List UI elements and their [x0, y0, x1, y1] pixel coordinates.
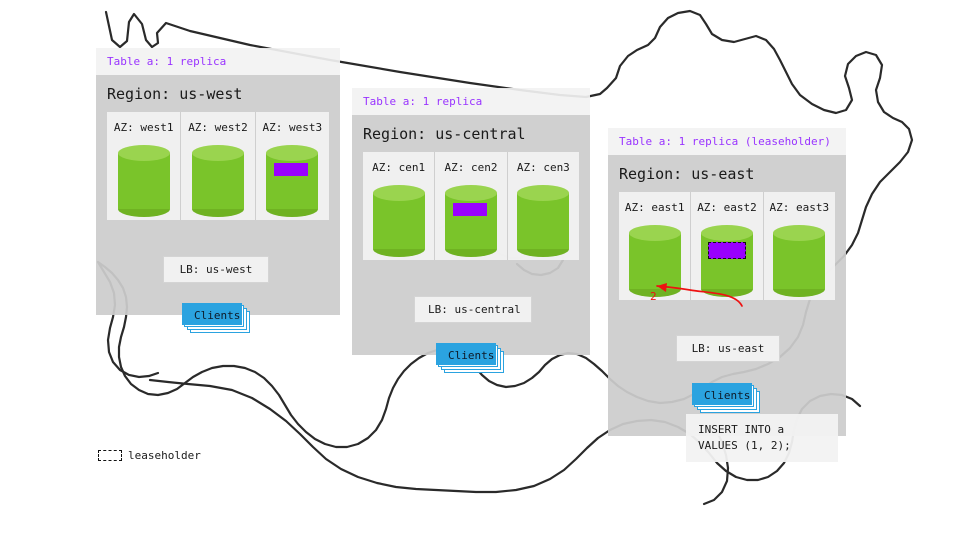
- cylinder-top: [517, 185, 569, 201]
- cylinder-top: [266, 145, 318, 161]
- cylinder-body: [445, 193, 497, 249]
- az-label: AZ: east3: [764, 201, 835, 214]
- az-label: AZ: west1: [107, 121, 180, 134]
- region-panel-us-east: Table a: 1 replica (leaseholder) Region:…: [608, 128, 846, 436]
- region-header-label: Table a: 1 replica: [352, 88, 590, 115]
- region-panel-us-central: Table a: 1 replica Region: us-central AZ…: [352, 88, 590, 355]
- az-label: AZ: west2: [181, 121, 254, 134]
- load-balancer-box[interactable]: LB: us-west: [163, 256, 269, 283]
- range-replica-leaseholder: [708, 242, 746, 259]
- cylinder-body: [373, 193, 425, 249]
- node-cylinder[interactable]: [445, 185, 497, 257]
- region-header-label: Table a: 1 replica (leaseholder): [608, 128, 846, 155]
- az-label: AZ: cen3: [508, 161, 579, 174]
- node-cylinder[interactable]: [192, 145, 244, 217]
- az-row: AZ: west1 AZ: west2 AZ: [107, 112, 329, 220]
- arrow-step-label-2: 2: [650, 290, 657, 303]
- az-label: AZ: east1: [619, 201, 690, 214]
- range-replica: [453, 203, 487, 216]
- az-label: AZ: cen2: [435, 161, 506, 174]
- cylinder-top: [445, 185, 497, 201]
- az-cell-cen1[interactable]: AZ: cen1: [363, 152, 434, 260]
- cylinder-top: [773, 225, 825, 241]
- sql-statement-box: INSERT INTO a VALUES (1, 2);: [686, 414, 838, 462]
- clients-stack[interactable]: Clients: [692, 383, 760, 413]
- az-label: AZ: east2: [691, 201, 762, 214]
- cylinder-body: [629, 233, 681, 289]
- node-cylinder[interactable]: [773, 225, 825, 297]
- az-cell-cen3[interactable]: AZ: cen3: [507, 152, 579, 260]
- node-cylinder[interactable]: [373, 185, 425, 257]
- range-replica: [274, 163, 308, 176]
- legend-label: leaseholder: [128, 449, 201, 462]
- node-cylinder[interactable]: [517, 185, 569, 257]
- cylinder-body: [192, 153, 244, 209]
- az-cell-cen2[interactable]: AZ: cen2: [434, 152, 506, 260]
- az-cell-west3[interactable]: AZ: west3: [255, 112, 329, 220]
- clients-stack[interactable]: Clients: [182, 303, 250, 333]
- cylinder-top: [118, 145, 170, 161]
- region-title: Region: us-central: [352, 115, 590, 152]
- az-cell-east1[interactable]: AZ: east1: [619, 192, 690, 300]
- az-row: AZ: cen1 AZ: cen2: [363, 152, 579, 260]
- node-cylinder[interactable]: [266, 145, 318, 217]
- diagram-canvas: Table a: 1 replica Region: us-west AZ: w…: [0, 0, 960, 540]
- az-cell-east3[interactable]: AZ: east3: [763, 192, 835, 300]
- az-label: AZ: west3: [256, 121, 329, 134]
- dashed-rectangle-icon: [98, 450, 122, 461]
- cylinder-body: [266, 153, 318, 209]
- region-panel-us-west: Table a: 1 replica Region: us-west AZ: w…: [96, 48, 340, 315]
- node-cylinder[interactable]: [629, 225, 681, 297]
- region-title: Region: us-west: [96, 75, 340, 112]
- legend: leaseholder: [98, 449, 201, 462]
- clients-button[interactable]: Clients: [182, 303, 242, 325]
- region-title: Region: us-east: [608, 155, 846, 192]
- az-cell-east2[interactable]: AZ: east2: [690, 192, 762, 300]
- clients-button[interactable]: Clients: [436, 343, 496, 365]
- clients-button[interactable]: Clients: [692, 383, 752, 405]
- az-cell-west2[interactable]: AZ: west2: [180, 112, 254, 220]
- cylinder-top: [373, 185, 425, 201]
- cylinder-top: [192, 145, 244, 161]
- cylinder-top: [629, 225, 681, 241]
- region-header-label: Table a: 1 replica: [96, 48, 340, 75]
- cylinder-body: [773, 233, 825, 289]
- clients-stack[interactable]: Clients: [436, 343, 504, 373]
- load-balancer-box[interactable]: LB: us-central: [414, 296, 532, 323]
- cylinder-body: [517, 193, 569, 249]
- cylinder-body: [118, 153, 170, 209]
- az-label: AZ: cen1: [363, 161, 434, 174]
- load-balancer-box[interactable]: LB: us-east: [676, 335, 780, 362]
- az-cell-west1[interactable]: AZ: west1: [107, 112, 180, 220]
- az-row: AZ: east1 AZ: east2: [619, 192, 835, 300]
- node-cylinder[interactable]: [118, 145, 170, 217]
- cylinder-top: [701, 225, 753, 241]
- node-cylinder[interactable]: [701, 225, 753, 297]
